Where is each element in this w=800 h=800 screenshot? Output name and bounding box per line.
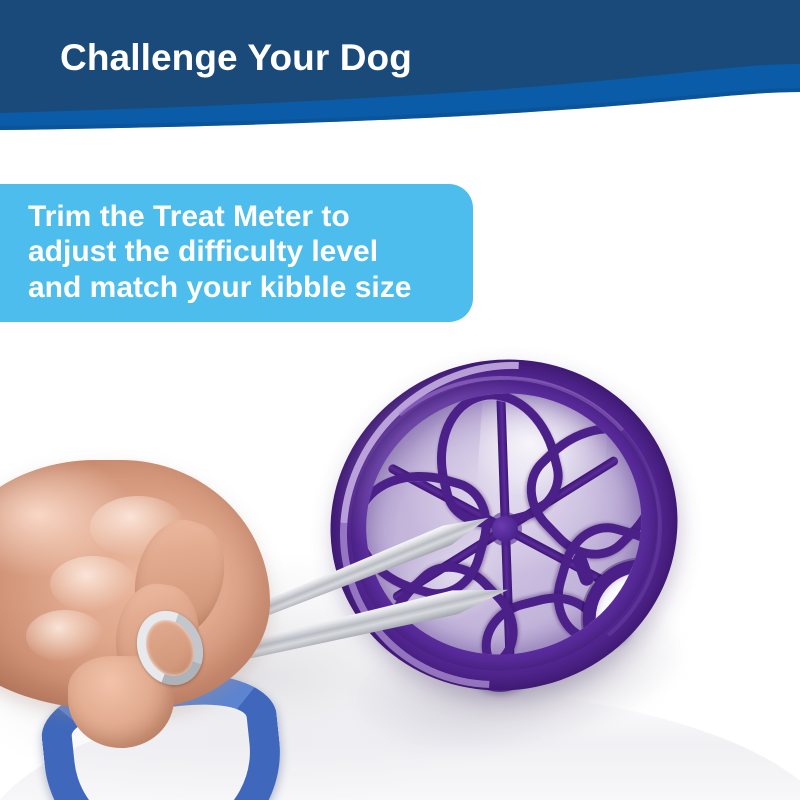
knuckle-highlight: [50, 556, 136, 612]
center-hub: [489, 513, 521, 545]
divider-spoke: [386, 463, 507, 533]
interior-sheen-lower: [390, 520, 518, 632]
poster-root: Challenge Your Dog Trim the Treat Meter …: [0, 0, 800, 800]
divider-spoke: [391, 525, 508, 603]
callout-box: Trim the Treat Meter to adjust the diffi…: [0, 184, 473, 322]
scissor-pivot-screw: [204, 680, 222, 698]
knuckle-highlight: [26, 610, 104, 662]
finger-ring: [125, 600, 214, 695]
scissor-handle-upper: [108, 644, 212, 713]
scissor-handle-loop-highlight: [37, 666, 291, 800]
index-finger: [121, 510, 237, 649]
header-banner: Challenge Your Dog: [0, 0, 800, 140]
scissor-handle-loop: [37, 666, 291, 800]
treat-dispenser-bowl: [295, 323, 712, 727]
hand-palm: [0, 460, 270, 710]
middle-finger: [109, 579, 206, 699]
callout-line-3: and match your kibble size: [28, 270, 455, 305]
callout-line-1: Trim the Treat Meter to: [28, 199, 455, 234]
hand: [0, 460, 300, 760]
knuckle-highlight: [90, 496, 186, 558]
divider-spoke: [503, 455, 620, 533]
thumb: [68, 656, 174, 748]
divider-spoke: [496, 397, 510, 529]
callout-line-2: adjust the difficulty level: [28, 234, 455, 269]
divider-spoke: [501, 529, 515, 661]
treat-meter-stem: [571, 551, 596, 588]
page-title: Challenge Your Dog: [60, 0, 412, 116]
